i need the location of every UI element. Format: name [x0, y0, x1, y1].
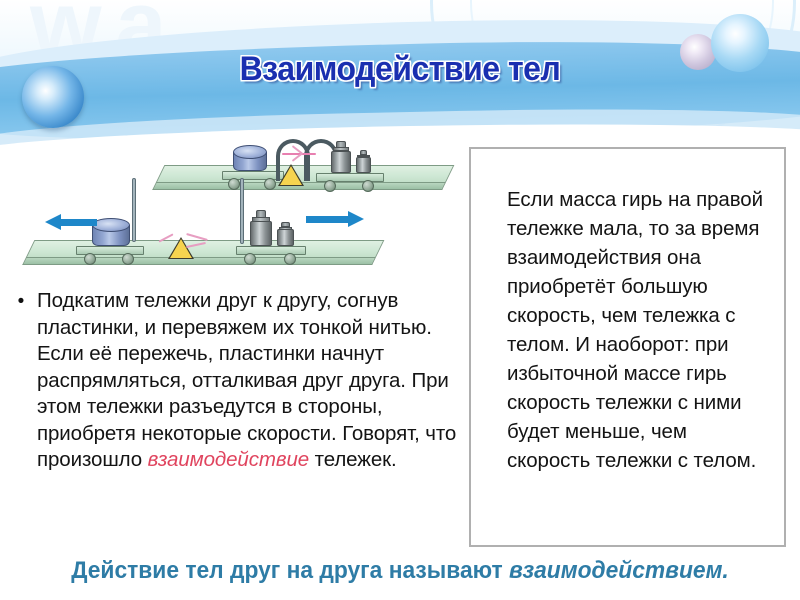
slide-root: wa Взаимодействие тел	[0, 0, 800, 600]
bullet-text: Подкатим тележки друг к другу, согнув пл…	[37, 288, 466, 474]
bullet-text-emphasis: взаимодействие	[148, 448, 309, 471]
body-cylinder-lower	[92, 218, 130, 246]
cart-upper-right	[316, 173, 384, 182]
bullet-text-part1: Подкатим тележки друг к другу, согнув пл…	[37, 289, 456, 471]
weight-small-upper	[355, 150, 372, 173]
footer-caption: Действие тел друг на друга называют взаи…	[20, 557, 780, 585]
side-note-box: Если масса гирь на правой тележке мала, …	[469, 147, 786, 547]
burner-flame-upper	[280, 166, 302, 185]
page-title: Взаимодействие тел	[24, 50, 776, 89]
slide-banner: wa Взаимодействие тел	[0, 0, 800, 146]
cart-upper-left	[222, 171, 284, 180]
footer-text-part1: Действие тел друг на друга называют	[71, 557, 509, 584]
physics-illustration	[10, 140, 460, 285]
burner-flame-lower	[170, 239, 192, 258]
weight-small-lower	[276, 222, 295, 246]
straight-plate-right	[240, 178, 244, 244]
weight-large-lower	[249, 210, 273, 246]
cart-lower-right	[236, 246, 306, 255]
cart-lower-left	[76, 246, 144, 255]
footer-text-emphasis: взаимодействием.	[509, 557, 729, 584]
side-note-text: Если масса гирь на правой тележке мала, …	[507, 185, 765, 475]
bullet-text-part2: тележек.	[309, 448, 397, 471]
body-cylinder-upper	[233, 145, 267, 171]
bullet-marker: •	[14, 288, 28, 474]
weight-large-upper	[330, 141, 352, 173]
arrow-left	[45, 217, 97, 227]
arrow-right	[306, 214, 364, 224]
straight-plate-left	[132, 178, 136, 242]
bullet-paragraph: • Подкатим тележки друг к другу, согнув …	[14, 288, 466, 474]
